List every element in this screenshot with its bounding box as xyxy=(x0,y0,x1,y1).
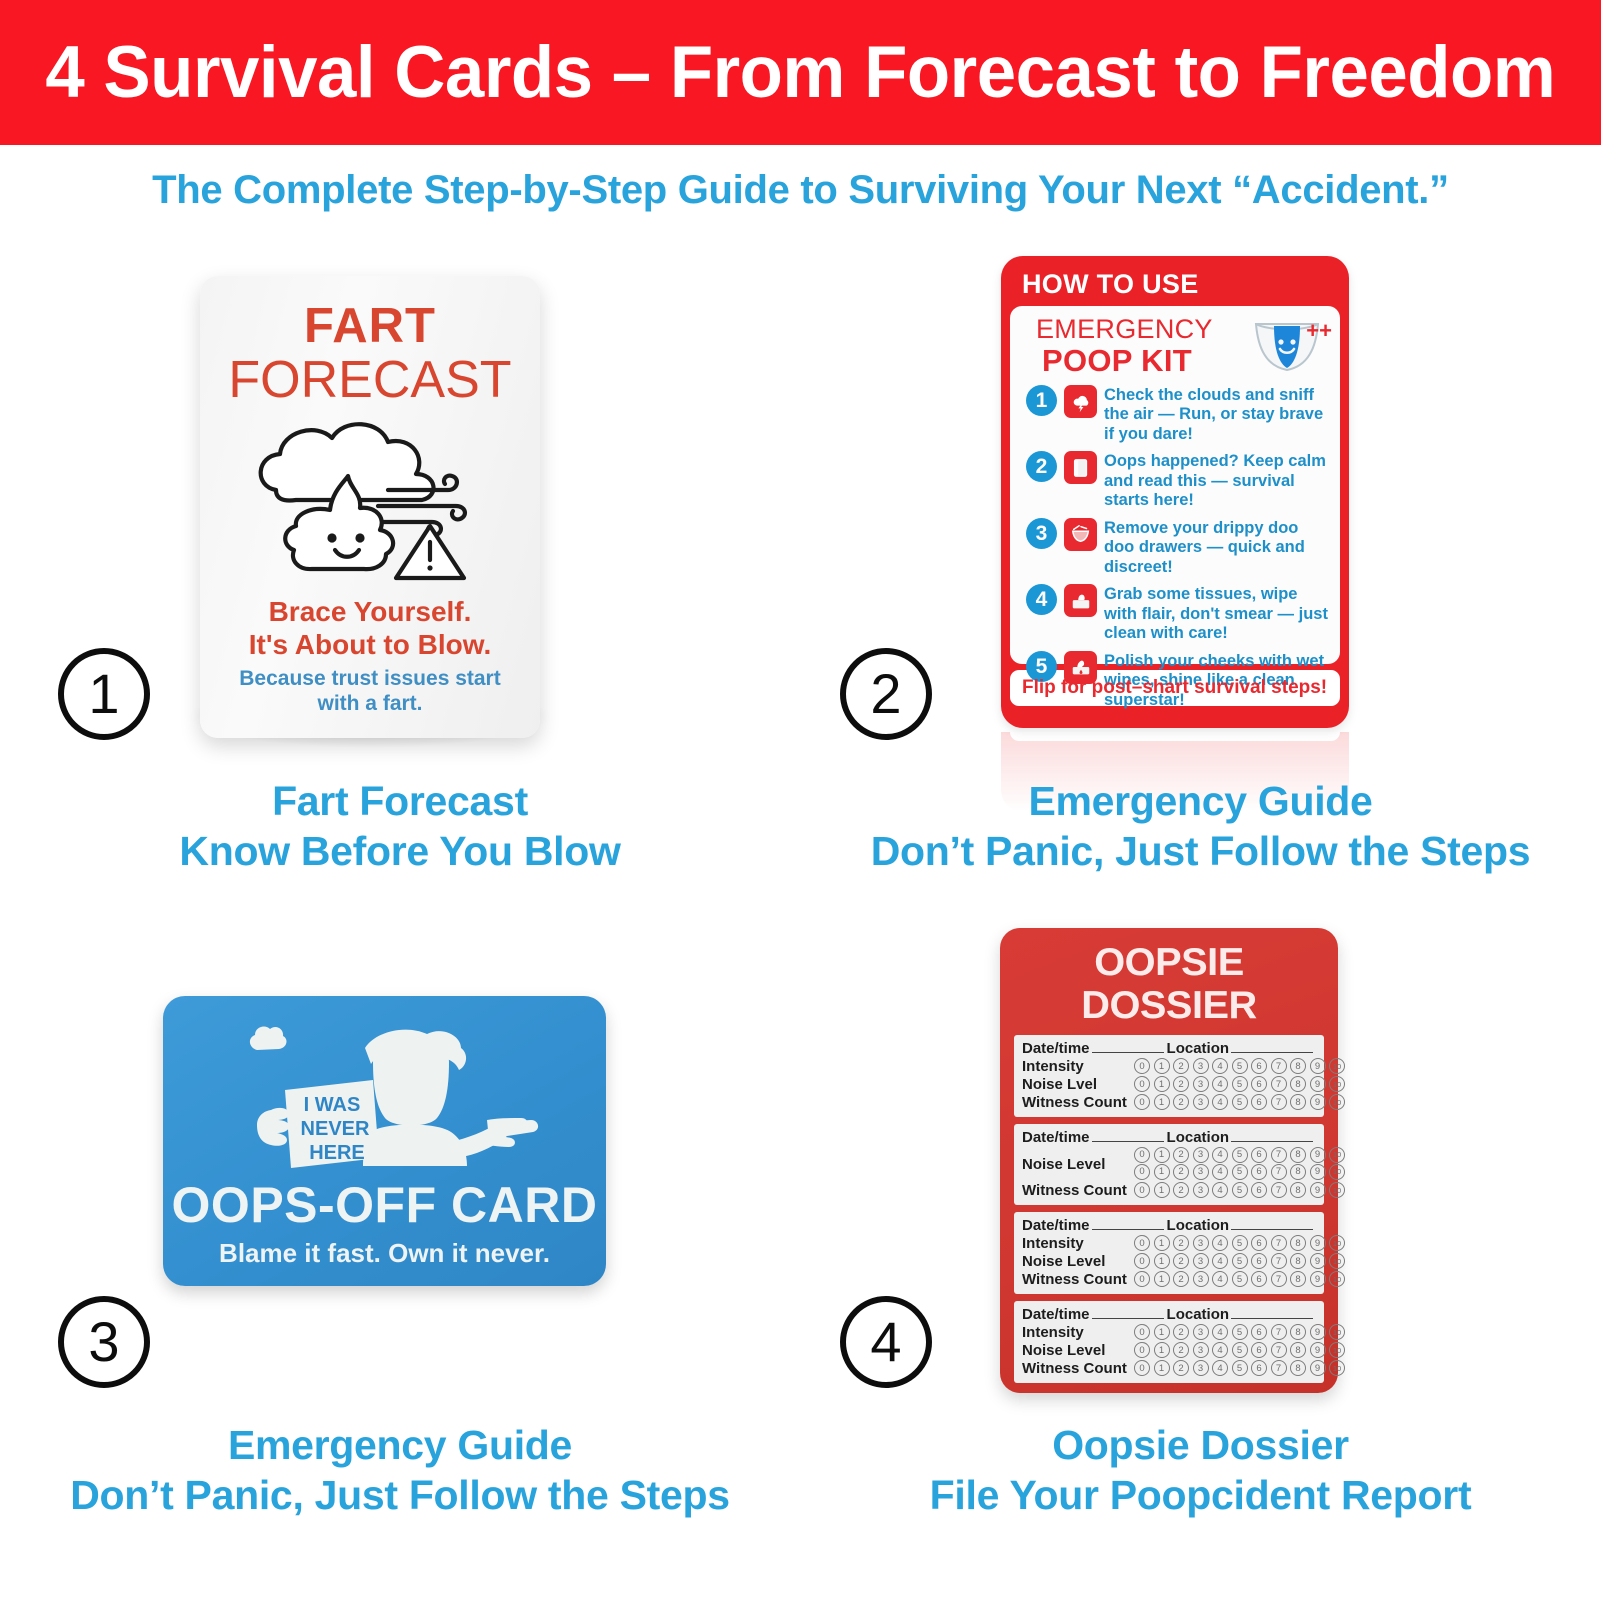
scale-bubble-8[interactable]: 8 xyxy=(1290,1076,1306,1092)
scale-bubble-4[interactable]: 4 xyxy=(1212,1342,1228,1358)
card1-footnote: Because trust issues start with a fart. xyxy=(218,666,522,716)
scale-bubble-2[interactable]: 2 xyxy=(1173,1147,1189,1163)
step-badge-4: 4 xyxy=(840,1296,932,1388)
card1-tagline-line1: Brace Yourself. xyxy=(218,595,522,628)
scale-bubble-2[interactable]: 2 xyxy=(1173,1182,1189,1198)
scale-bubble-8[interactable]: 8 xyxy=(1290,1342,1306,1358)
dossier-row-witness: Witness Count 012345678910 xyxy=(1022,1271,1316,1288)
caption-card-2-sub: Don’t Panic, Just Follow the Steps xyxy=(800,826,1601,876)
scale-bubble-5[interactable]: 5 xyxy=(1232,1058,1248,1074)
label-datetime: Date/time xyxy=(1022,1040,1090,1057)
scale-bubble-8[interactable]: 8 xyxy=(1290,1164,1306,1180)
intensity-scale[interactable]: 012345678910 xyxy=(1134,1235,1345,1251)
card2-step-2-text: Oops happened? Keep calm and read this —… xyxy=(1104,451,1330,510)
intensity-scale[interactable]: 012345678910 xyxy=(1134,1058,1345,1074)
card2-kit-line1: EMERGENCY xyxy=(1036,316,1213,343)
scale-bubble-3[interactable]: 3 xyxy=(1193,1182,1209,1198)
scale-bubble-0[interactable]: 0 xyxy=(1134,1342,1150,1358)
card1-tagline-line2: It's About to Blow. xyxy=(218,628,522,661)
dossier-entry-block[interactable]: Date/time Location Intensity 01234567891… xyxy=(1014,1035,1324,1117)
dossier-datetime-line: Date/time Location xyxy=(1022,1040,1316,1057)
scale-bubble-6[interactable]: 6 xyxy=(1251,1182,1267,1198)
label-location: Location xyxy=(1167,1306,1230,1323)
card4-title: OOPSIE DOSSIER xyxy=(1011,938,1327,1035)
scale-bubble-7[interactable]: 7 xyxy=(1271,1235,1287,1251)
scale-bubble-2[interactable]: 2 xyxy=(1173,1253,1189,1269)
label-witness-count: Witness Count xyxy=(1022,1182,1134,1199)
scale-bubble-6[interactable]: 6 xyxy=(1251,1076,1267,1092)
scale-bubble-2[interactable]: 2 xyxy=(1173,1094,1189,1110)
scale-bubble-4[interactable]: 4 xyxy=(1212,1360,1228,1376)
witness-scale[interactable]: 012345678910 xyxy=(1134,1094,1345,1110)
datetime-write-rule[interactable] xyxy=(1092,1131,1164,1142)
scale-bubble-2[interactable]: 2 xyxy=(1173,1324,1189,1340)
scale-bubble-3[interactable]: 3 xyxy=(1193,1360,1209,1376)
scale-bubble-4[interactable]: 4 xyxy=(1212,1235,1228,1251)
scale-bubble-9[interactable]: 9 xyxy=(1310,1182,1326,1198)
scale-bubble-0[interactable]: 0 xyxy=(1134,1147,1150,1163)
scale-bubble-2[interactable]: 2 xyxy=(1173,1235,1189,1251)
scale-bubble-1[interactable]: 1 xyxy=(1154,1235,1170,1251)
scale-bubble-4[interactable]: 4 xyxy=(1212,1164,1228,1180)
scale-bubble-6[interactable]: 6 xyxy=(1251,1360,1267,1376)
scale-bubble-1[interactable]: 1 xyxy=(1154,1076,1170,1092)
location-write-rule[interactable] xyxy=(1231,1131,1313,1142)
scale-bubble-6[interactable]: 6 xyxy=(1251,1324,1267,1340)
scale-bubble-10[interactable]: 10 xyxy=(1329,1271,1345,1287)
witness-scale[interactable]: 012345678910 xyxy=(1134,1182,1345,1198)
scale-bubble-2[interactable]: 2 xyxy=(1173,1076,1189,1092)
oopsie-dossier-card[interactable]: OOPSIE DOSSIER Date/time Location Intens… xyxy=(1000,928,1338,1393)
card-cell-2: HOW TO USE EMERGENCY POOP KIT xyxy=(800,238,1601,888)
scale-bubble-9[interactable]: 9 xyxy=(1310,1324,1326,1340)
scale-bubble-10[interactable]: 10 xyxy=(1329,1342,1345,1358)
noise-scale[interactable]: 012345678910 xyxy=(1134,1076,1345,1092)
scale-bubble-9[interactable]: 9 xyxy=(1310,1094,1326,1110)
noise-scale[interactable]: 012345678910 xyxy=(1134,1147,1345,1163)
scale-bubble-1[interactable]: 1 xyxy=(1154,1164,1170,1180)
scale-bubble-5[interactable]: 5 xyxy=(1232,1147,1248,1163)
scale-bubble-4[interactable]: 4 xyxy=(1212,1324,1228,1340)
card2-step-1-text: Check the clouds and sniff the air — Run… xyxy=(1104,385,1330,444)
caption-card-1-title: Fart Forecast xyxy=(272,778,528,824)
scale-bubble-7[interactable]: 7 xyxy=(1271,1271,1287,1287)
scale-bubble-0[interactable]: 0 xyxy=(1134,1253,1150,1269)
scale-bubble-7[interactable]: 7 xyxy=(1271,1076,1287,1092)
dossier-datetime-line: Date/time Location xyxy=(1022,1129,1316,1146)
scale-bubble-4[interactable]: 4 xyxy=(1212,1147,1228,1163)
scale-bubble-5[interactable]: 5 xyxy=(1232,1182,1248,1198)
card2-step-2: 2 Oops happened? Keep calm and read this… xyxy=(1022,451,1330,510)
card2-step-3-number: 3 xyxy=(1026,518,1057,549)
step-badge-3: 3 xyxy=(58,1296,150,1388)
scale-bubble-7[interactable]: 7 xyxy=(1271,1147,1287,1163)
scale-bubble-1[interactable]: 1 xyxy=(1154,1253,1170,1269)
scale-bubble-5[interactable]: 5 xyxy=(1232,1253,1248,1269)
guilty-man-illustration: I WAS NEVER HERE xyxy=(163,1014,606,1174)
scale-bubble-3[interactable]: 3 xyxy=(1193,1253,1209,1269)
scale-bubble-6[interactable]: 6 xyxy=(1251,1147,1267,1163)
location-write-rule[interactable] xyxy=(1231,1042,1313,1053)
dossier-row-noise-doubled: Noise Level 012345678910 012345678910 xyxy=(1022,1147,1316,1181)
scale-bubble-7[interactable]: 7 xyxy=(1271,1094,1287,1110)
scale-bubble-5[interactable]: 5 xyxy=(1232,1094,1248,1110)
scale-bubble-7[interactable]: 7 xyxy=(1271,1342,1287,1358)
scale-bubble-10[interactable]: 10 xyxy=(1329,1235,1345,1251)
card2-step-4: 4 Grab some tissues, wipe with flair, do… xyxy=(1022,584,1330,643)
label-intensity: Intensity xyxy=(1022,1058,1134,1075)
scale-bubble-9[interactable]: 9 xyxy=(1310,1076,1326,1092)
scale-bubble-3[interactable]: 3 xyxy=(1193,1324,1209,1340)
caption-card-2-title: Emergency Guide xyxy=(1028,778,1372,824)
sign-line-2: NEVER xyxy=(300,1118,369,1140)
scale-bubble-1[interactable]: 1 xyxy=(1154,1271,1170,1287)
dossier-entry-block[interactable]: Date/time Location Intensity 01234567891… xyxy=(1014,1301,1324,1383)
card3-tagline: Blame it fast. Own it never. xyxy=(163,1238,606,1269)
scale-bubble-1[interactable]: 1 xyxy=(1154,1182,1170,1198)
scale-bubble-8[interactable]: 8 xyxy=(1290,1058,1306,1074)
card2-step-2-number: 2 xyxy=(1026,451,1057,482)
emergency-poop-kit-card[interactable]: HOW TO USE EMERGENCY POOP KIT xyxy=(1001,256,1349,728)
scale-bubble-0[interactable]: 0 xyxy=(1134,1182,1150,1198)
scale-bubble-0[interactable]: 0 xyxy=(1134,1058,1150,1074)
sign-line-1: I WAS xyxy=(303,1094,360,1116)
scale-bubble-3[interactable]: 3 xyxy=(1193,1147,1209,1163)
scale-bubble-7[interactable]: 7 xyxy=(1271,1182,1287,1198)
underwear-icon xyxy=(1064,518,1097,551)
scale-bubble-9[interactable]: 9 xyxy=(1310,1164,1326,1180)
scale-bubble-9[interactable]: 9 xyxy=(1310,1058,1326,1074)
scale-bubble-6[interactable]: 6 xyxy=(1251,1058,1267,1074)
card2-step-3-text: Remove your drippy doo doo drawers — qui… xyxy=(1104,518,1330,577)
label-witness-count: Witness Count xyxy=(1022,1271,1134,1288)
scale-bubble-1[interactable]: 1 xyxy=(1154,1342,1170,1358)
scale-bubble-8[interactable]: 8 xyxy=(1290,1271,1306,1287)
card3-title: OOPS-OFF CARD xyxy=(163,1180,606,1230)
caption-card-1-sub: Know Before You Blow xyxy=(0,826,800,876)
scale-bubble-10[interactable]: 10 xyxy=(1329,1076,1345,1092)
scale-bubble-0[interactable]: 0 xyxy=(1134,1271,1150,1287)
scale-bubble-10[interactable]: 10 xyxy=(1329,1253,1345,1269)
scale-bubble-1[interactable]: 1 xyxy=(1154,1324,1170,1340)
step-badge-2: 2 xyxy=(840,648,932,740)
scale-bubble-1[interactable]: 1 xyxy=(1154,1147,1170,1163)
scale-bubble-5[interactable]: 5 xyxy=(1232,1324,1248,1340)
dossier-datetime-line: Date/time Location xyxy=(1022,1217,1316,1234)
scale-bubble-9[interactable]: 9 xyxy=(1310,1360,1326,1376)
card-cell-1: FART FORECAST Brace Your xyxy=(0,238,800,888)
card2-step-1: 1 Check the clouds and sniff the air — R… xyxy=(1022,385,1330,444)
scale-bubble-5[interactable]: 5 xyxy=(1232,1360,1248,1376)
caption-card-1: Fart Forecast Know Before You Blow xyxy=(0,776,800,876)
scale-bubble-10[interactable]: 10 xyxy=(1329,1147,1345,1163)
scale-bubble-10[interactable]: 10 xyxy=(1329,1360,1345,1376)
card2-kit-line2: POOP KIT xyxy=(1042,345,1213,376)
noise-scale-stack: 012345678910 012345678910 xyxy=(1134,1147,1345,1181)
page-title: 4 Survival Cards – From Forecast to Free… xyxy=(46,31,1556,114)
card2-body: EMERGENCY POOP KIT ++ 1 xyxy=(1010,306,1340,664)
dossier-row-noise-typo: Noise Lvel 012345678910 xyxy=(1022,1076,1316,1093)
label-noise-level: Noise Level xyxy=(1022,1253,1134,1270)
scale-bubble-7[interactable]: 7 xyxy=(1271,1253,1287,1269)
witness-scale[interactable]: 012345678910 xyxy=(1134,1360,1345,1376)
scale-bubble-10[interactable]: 10 xyxy=(1329,1164,1345,1180)
scale-bubble-5[interactable]: 5 xyxy=(1232,1076,1248,1092)
location-write-rule[interactable] xyxy=(1231,1308,1313,1319)
card2-plus-marks: ++ xyxy=(1306,322,1332,341)
sign-line-3: HERE xyxy=(309,1142,365,1164)
scale-bubble-9[interactable]: 9 xyxy=(1310,1253,1326,1269)
label-intensity: Intensity xyxy=(1022,1324,1134,1341)
scale-bubble-2[interactable]: 2 xyxy=(1173,1360,1189,1376)
label-location: Location xyxy=(1167,1040,1230,1057)
fart-cloud-illustration xyxy=(218,414,522,589)
card1-footnote-line2: with a fart. xyxy=(218,691,522,716)
dossier-row-witness: Witness Count 012345678910 xyxy=(1022,1094,1316,1111)
card1-title-line2: FORECAST xyxy=(218,353,522,408)
caption-card-3-sub: Don’t Panic, Just Follow the Steps xyxy=(0,1470,800,1520)
scale-bubble-2[interactable]: 2 xyxy=(1173,1271,1189,1287)
scale-bubble-1[interactable]: 1 xyxy=(1154,1360,1170,1376)
scale-bubble-2[interactable]: 2 xyxy=(1173,1342,1189,1358)
scale-bubble-9[interactable]: 9 xyxy=(1310,1342,1326,1358)
scale-bubble-9[interactable]: 9 xyxy=(1310,1235,1326,1251)
scale-bubble-3[interactable]: 3 xyxy=(1193,1076,1209,1092)
datetime-write-rule[interactable] xyxy=(1092,1042,1164,1053)
dossier-entry-block[interactable]: Date/time Location Intensity 01234567891… xyxy=(1014,1212,1324,1294)
scale-bubble-7[interactable]: 7 xyxy=(1271,1058,1287,1074)
caption-card-4: Oopsie Dossier File Your Poopcident Repo… xyxy=(800,1420,1601,1520)
card1-tagline: Brace Yourself. It's About to Blow. xyxy=(218,595,522,661)
scale-bubble-10[interactable]: 10 xyxy=(1329,1058,1345,1074)
storm-cloud-icon xyxy=(1064,385,1097,418)
scale-bubble-1[interactable]: 1 xyxy=(1154,1094,1170,1110)
label-intensity: Intensity xyxy=(1022,1235,1134,1252)
scale-bubble-6[interactable]: 6 xyxy=(1251,1094,1267,1110)
scale-bubble-2[interactable]: 2 xyxy=(1173,1164,1189,1180)
caption-card-4-title: Oopsie Dossier xyxy=(1052,1422,1349,1468)
scale-bubble-6[interactable]: 6 xyxy=(1251,1253,1267,1269)
datetime-write-rule[interactable] xyxy=(1092,1219,1164,1230)
label-location: Location xyxy=(1167,1217,1230,1234)
card-cell-4: OOPSIE DOSSIER Date/time Location Intens… xyxy=(800,888,1601,1533)
card2-reflection-text: Flip for post–shart survival steps! xyxy=(1010,732,1340,741)
scale-bubble-4[interactable]: 4 xyxy=(1212,1058,1228,1074)
scale-bubble-8[interactable]: 8 xyxy=(1290,1253,1306,1269)
scale-bubble-3[interactable]: 3 xyxy=(1193,1235,1209,1251)
scale-bubble-7[interactable]: 7 xyxy=(1271,1360,1287,1376)
label-datetime: Date/time xyxy=(1022,1306,1090,1323)
scale-bubble-0[interactable]: 0 xyxy=(1134,1324,1150,1340)
card2-kit-title: EMERGENCY POOP KIT xyxy=(1036,316,1213,376)
scale-bubble-0[interactable]: 0 xyxy=(1134,1094,1150,1110)
scale-bubble-4[interactable]: 4 xyxy=(1212,1094,1228,1110)
card1-footnote-line1: Because trust issues start xyxy=(218,666,522,691)
scale-bubble-5[interactable]: 5 xyxy=(1232,1342,1248,1358)
dossier-row-intensity: Intensity 012345678910 xyxy=(1022,1058,1316,1075)
caption-card-3: Emergency Guide Don’t Panic, Just Follow… xyxy=(0,1420,800,1520)
label-datetime: Date/time xyxy=(1022,1129,1090,1146)
scale-bubble-0[interactable]: 0 xyxy=(1134,1235,1150,1251)
cloud-poop-wind-icon xyxy=(240,414,500,589)
caption-card-3-title: Emergency Guide xyxy=(228,1422,572,1468)
scale-bubble-4[interactable]: 4 xyxy=(1212,1271,1228,1287)
scale-bubble-10[interactable]: 10 xyxy=(1329,1324,1345,1340)
dossier-row-intensity: Intensity 012345678910 xyxy=(1022,1235,1316,1252)
scale-bubble-4[interactable]: 4 xyxy=(1212,1076,1228,1092)
caption-card-4-sub: File Your Poopcident Report xyxy=(800,1470,1601,1520)
header-band: 4 Survival Cards – From Forecast to Free… xyxy=(0,0,1601,145)
noise-scale[interactable]: 012345678910 xyxy=(1134,1164,1345,1180)
card2-head: EMERGENCY POOP KIT ++ xyxy=(1022,314,1330,378)
scale-bubble-3[interactable]: 3 xyxy=(1193,1164,1209,1180)
noise-scale[interactable]: 012345678910 xyxy=(1134,1253,1345,1269)
label-witness-count: Witness Count xyxy=(1022,1094,1134,1111)
dossier-row-noise: Noise Level 012345678910 xyxy=(1022,1253,1316,1270)
dossier-row-noise: Noise Level 012345678910 xyxy=(1022,1342,1316,1359)
scale-bubble-4[interactable]: 4 xyxy=(1212,1253,1228,1269)
intensity-scale[interactable]: 012345678910 xyxy=(1134,1324,1345,1340)
scale-bubble-4[interactable]: 4 xyxy=(1212,1182,1228,1198)
card1-title-line1: FART xyxy=(218,302,522,351)
dossier-entry-block[interactable]: Date/time Location Noise Level 012345678… xyxy=(1014,1124,1324,1205)
step-badge-1: 1 xyxy=(58,648,150,740)
man-pointing-sign-icon: I WAS NEVER HERE xyxy=(215,1014,555,1174)
caption-card-2: Emergency Guide Don’t Panic, Just Follow… xyxy=(800,776,1601,876)
scale-bubble-10[interactable]: 10 xyxy=(1329,1094,1345,1110)
scale-bubble-8[interactable]: 8 xyxy=(1290,1094,1306,1110)
page-subtitle: The Complete Step-by-Step Guide to Survi… xyxy=(0,168,1601,213)
card-cell-3: I WAS NEVER HERE OOPS-OFF CARD Blame it … xyxy=(0,888,800,1533)
card2-howto-header: HOW TO USE xyxy=(1010,265,1340,306)
scale-bubble-6[interactable]: 6 xyxy=(1251,1164,1267,1180)
scale-bubble-0[interactable]: 0 xyxy=(1134,1360,1150,1376)
label-noise-level: Noise Level xyxy=(1022,1342,1134,1359)
fart-forecast-card[interactable]: FART FORECAST Brace Your xyxy=(200,276,540,738)
book-icon xyxy=(1064,451,1097,484)
scale-bubble-8[interactable]: 8 xyxy=(1290,1147,1306,1163)
oops-off-card[interactable]: I WAS NEVER HERE OOPS-OFF CARD Blame it … xyxy=(163,996,606,1286)
diaper-shield-icon: ++ xyxy=(1250,318,1328,374)
scale-bubble-9[interactable]: 9 xyxy=(1310,1271,1326,1287)
scale-bubble-8[interactable]: 8 xyxy=(1290,1182,1306,1198)
tissue-box-icon xyxy=(1064,584,1097,617)
label-datetime: Date/time xyxy=(1022,1217,1090,1234)
scale-bubble-10[interactable]: 10 xyxy=(1329,1182,1345,1198)
witness-scale[interactable]: 012345678910 xyxy=(1134,1271,1345,1287)
dossier-datetime-line: Date/time Location xyxy=(1022,1306,1316,1323)
scale-bubble-8[interactable]: 8 xyxy=(1290,1324,1306,1340)
scale-bubble-3[interactable]: 3 xyxy=(1193,1271,1209,1287)
datetime-write-rule[interactable] xyxy=(1092,1308,1164,1319)
scale-bubble-7[interactable]: 7 xyxy=(1271,1324,1287,1340)
label-noise-level: Noise Level xyxy=(1022,1156,1134,1173)
scale-bubble-1[interactable]: 1 xyxy=(1154,1058,1170,1074)
card2-step-3: 3 Remove your drippy doo doo drawers — q… xyxy=(1022,518,1330,577)
card2-step-4-number: 4 xyxy=(1026,584,1057,615)
location-write-rule[interactable] xyxy=(1231,1219,1313,1230)
scale-bubble-7[interactable]: 7 xyxy=(1271,1164,1287,1180)
dossier-row-intensity: Intensity 012345678910 xyxy=(1022,1324,1316,1341)
scale-bubble-6[interactable]: 6 xyxy=(1251,1271,1267,1287)
scale-bubble-6[interactable]: 6 xyxy=(1251,1342,1267,1358)
noise-scale[interactable]: 012345678910 xyxy=(1134,1342,1345,1358)
scale-bubble-9[interactable]: 9 xyxy=(1310,1147,1326,1163)
scale-bubble-5[interactable]: 5 xyxy=(1232,1164,1248,1180)
scale-bubble-6[interactable]: 6 xyxy=(1251,1235,1267,1251)
scale-bubble-0[interactable]: 0 xyxy=(1134,1076,1150,1092)
label-location: Location xyxy=(1167,1129,1230,1146)
dossier-row-witness: Witness Count 012345678910 xyxy=(1022,1182,1316,1199)
scale-bubble-3[interactable]: 3 xyxy=(1193,1094,1209,1110)
card2-step-1-number: 1 xyxy=(1026,385,1057,416)
scale-bubble-5[interactable]: 5 xyxy=(1232,1235,1248,1251)
scale-bubble-0[interactable]: 0 xyxy=(1134,1164,1150,1180)
scale-bubble-8[interactable]: 8 xyxy=(1290,1235,1306,1251)
scale-bubble-3[interactable]: 3 xyxy=(1193,1342,1209,1358)
card2-step-4-text: Grab some tissues, wipe with flair, don'… xyxy=(1104,584,1330,643)
scale-bubble-3[interactable]: 3 xyxy=(1193,1058,1209,1074)
label-noise-level: Noise Lvel xyxy=(1022,1076,1134,1093)
label-witness-count: Witness Count xyxy=(1022,1360,1134,1377)
scale-bubble-2[interactable]: 2 xyxy=(1173,1058,1189,1074)
scale-bubble-8[interactable]: 8 xyxy=(1290,1360,1306,1376)
dossier-row-witness: Witness Count 012345678910 xyxy=(1022,1360,1316,1377)
scale-bubble-5[interactable]: 5 xyxy=(1232,1271,1248,1287)
